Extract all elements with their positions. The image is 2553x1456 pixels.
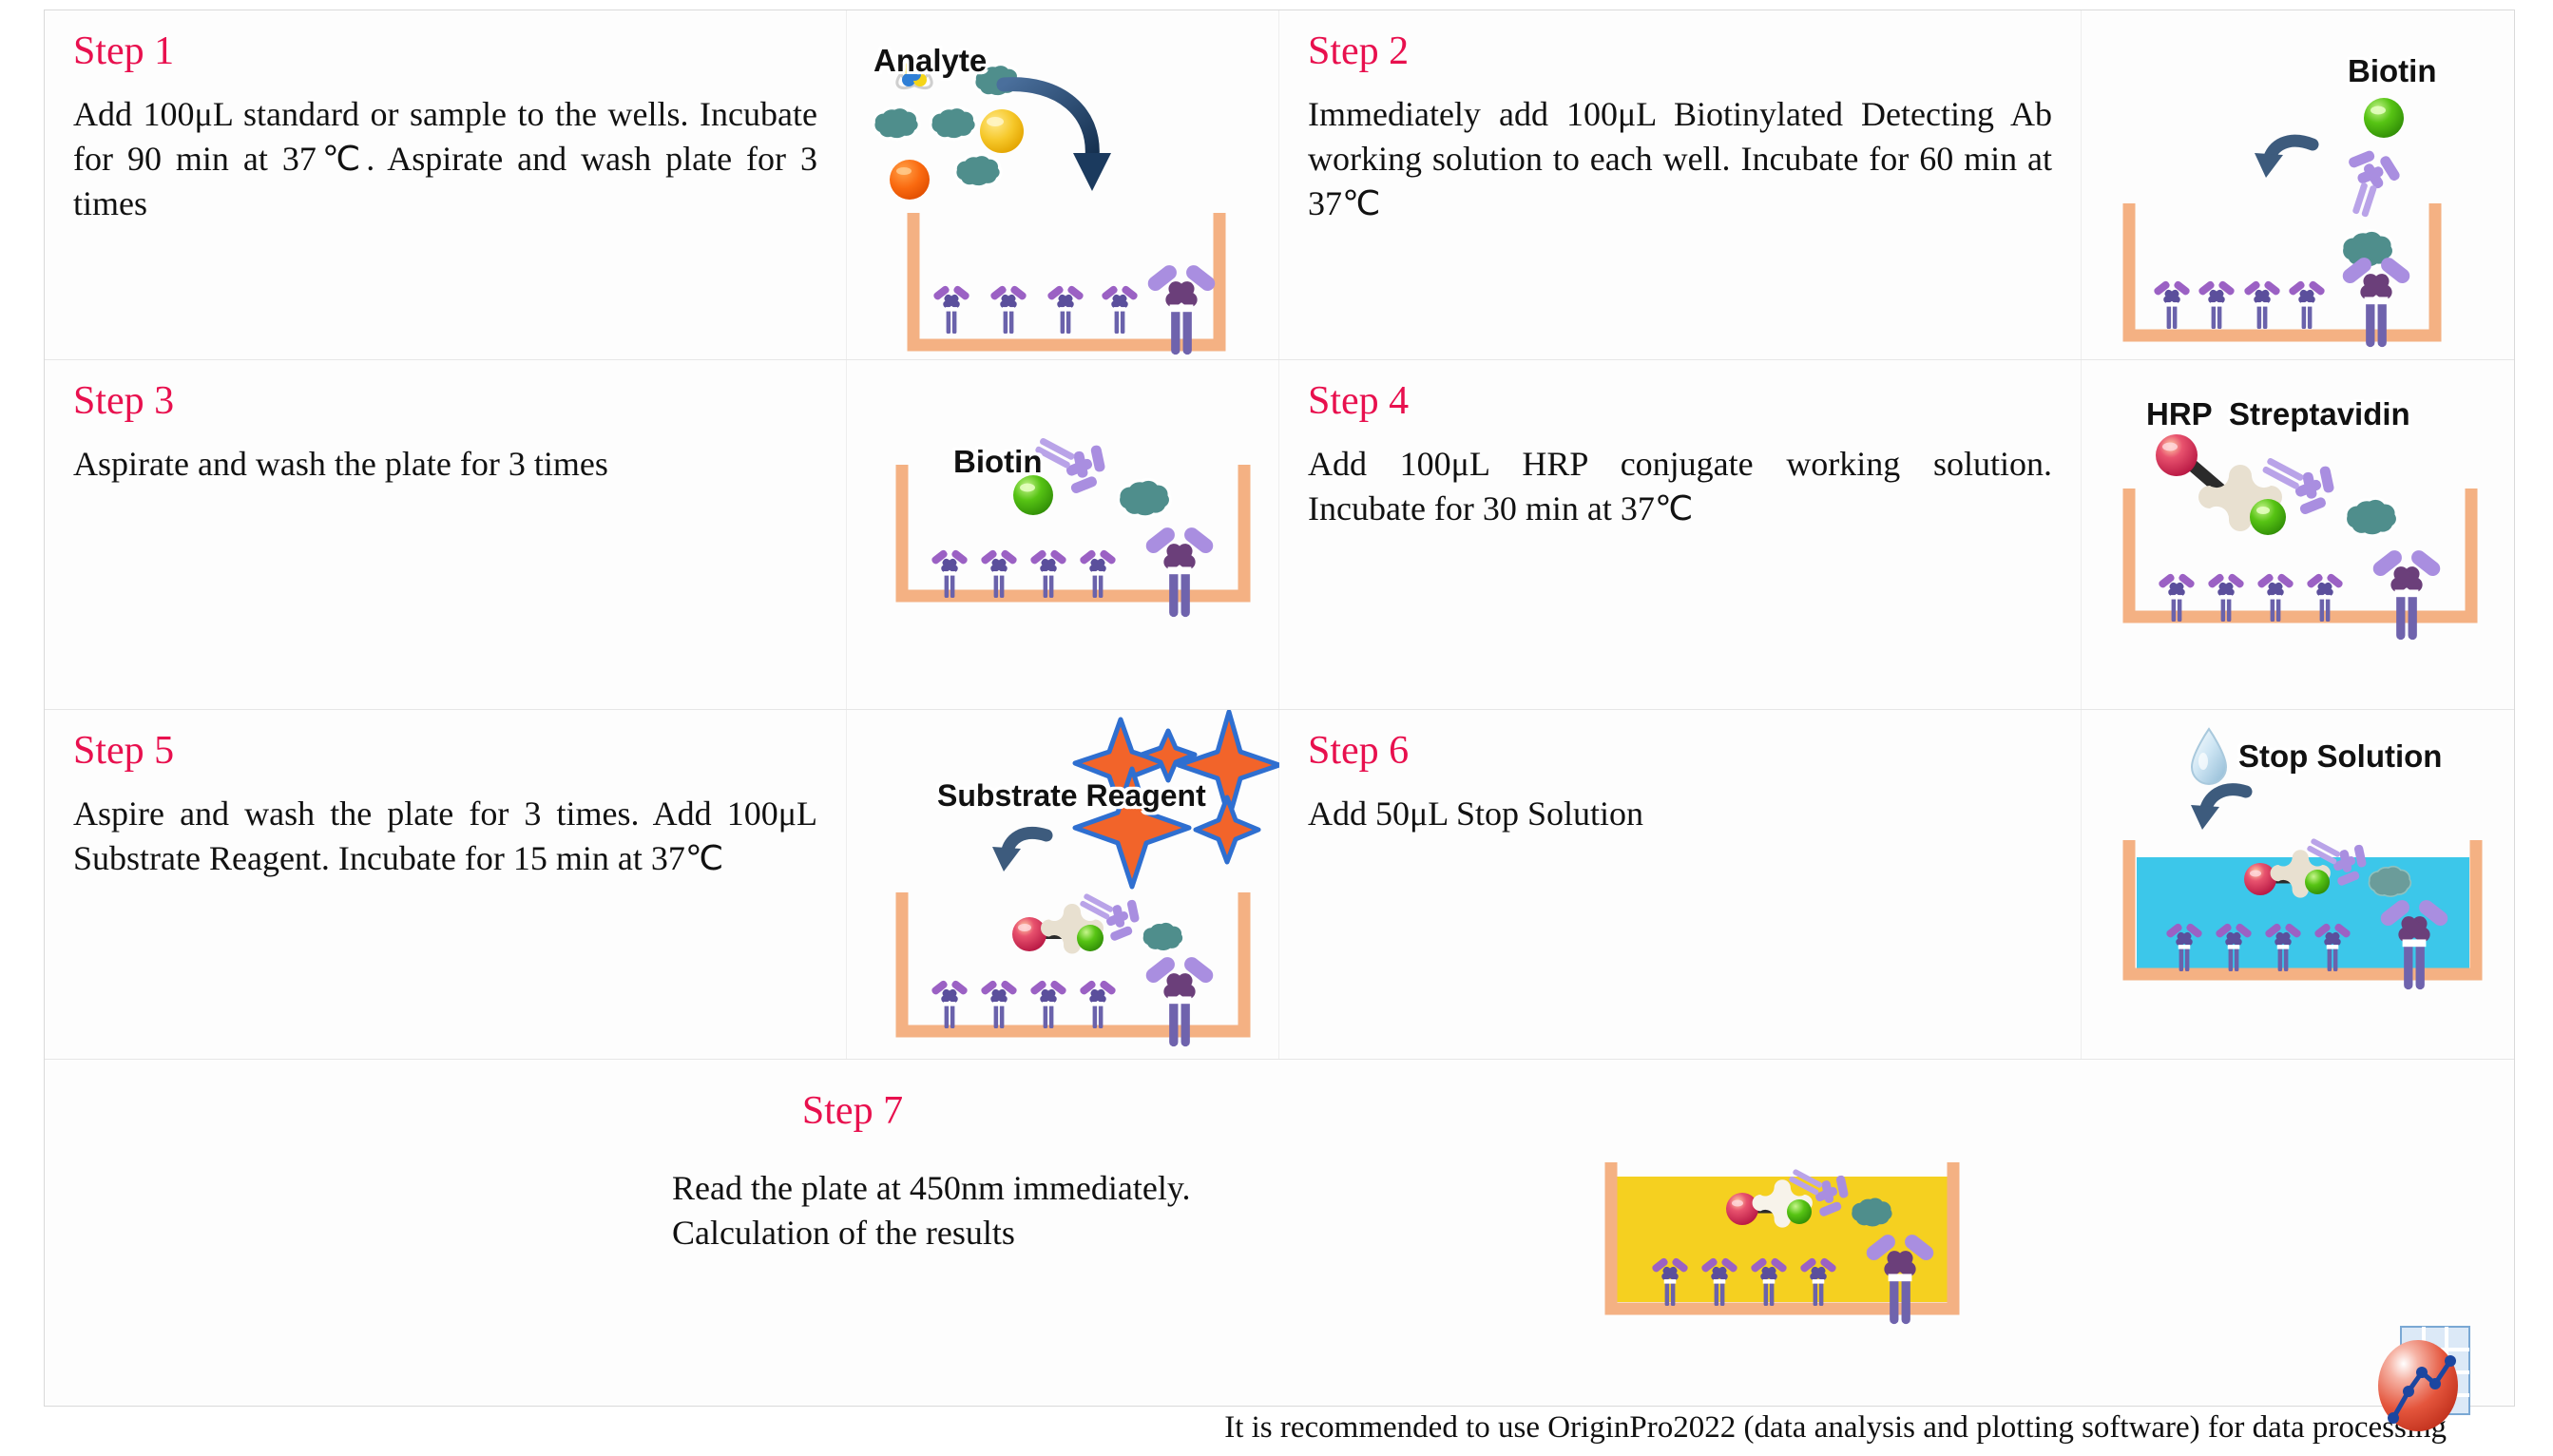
cell-step5-text: Step 5 Aspire and wash the plate for 3 t…: [45, 710, 847, 1059]
hrp-sphere-icon: [1726, 1193, 1758, 1225]
cell-step6-text: Step 6 Add 50μL Stop Solution: [1279, 710, 2082, 1059]
originpro-logo[interactable]: [2361, 1323, 2477, 1439]
step5-title: Step 5: [73, 731, 817, 771]
step7-body-line1: Read the plate at 450nm immediately.: [672, 1166, 1508, 1211]
washed-sandwich-diagram: [847, 360, 1279, 709]
capture-antibody-large: [2371, 547, 2444, 640]
step4-illustration: HRP Streptavidin: [2082, 360, 2514, 709]
cell-step3-illustration: Biotin: [847, 360, 1279, 709]
cell-step2-text: Step 2 Immediately add 100μL Biotinylate…: [1279, 10, 2082, 359]
step2-body: Immediately add 100μL Biotinylated Detec…: [1308, 92, 2052, 225]
step7-body: Read the plate at 450nm immediately. Cal…: [672, 1166, 1508, 1255]
biotin-sphere-icon: [1077, 925, 1104, 951]
capture-antibody-large: [1143, 525, 1217, 617]
capture-antibody-group: [931, 979, 1117, 1028]
cell-step4-illustration: HRP Streptavidin: [2082, 360, 2514, 709]
biotin-sphere-icon: [2364, 98, 2404, 138]
step6-body: Add 50μL Stop Solution: [1308, 792, 2052, 836]
step5-body: Aspire and wash the plate for 3 times. A…: [73, 792, 817, 881]
hrp-sphere-icon: [1012, 917, 1046, 951]
step7-body-line2: Calculation of the results: [672, 1211, 1508, 1255]
footer: It is recommended to use OriginPro2022 (…: [0, 1410, 2553, 1456]
cell-step1-illustration: Analyte: [847, 10, 1279, 359]
substrate-reagent-diagram: [847, 710, 1279, 1059]
cell-step5-illustration: Substrate Reagent: [847, 710, 1279, 1059]
cell-step4-text: Step 4 Add 100μL HRP conjugate working s…: [1279, 360, 2082, 709]
step6-illustration: Stop Solution: [2082, 710, 2514, 1059]
analyte-label: Analyte: [873, 43, 987, 79]
streptavidin-label: Streptavidin: [2229, 396, 2410, 432]
stop-solution-label: Stop Solution: [2238, 738, 2442, 775]
cell-step2-illustration: Biotin: [2082, 10, 2514, 359]
biotin-label: Biotin: [2348, 53, 2436, 89]
biotin-sphere-icon: [1787, 1199, 1812, 1224]
orange-molecule-icon: [890, 160, 930, 200]
hrp-sphere-icon: [2156, 434, 2198, 476]
step4-title: Step 4: [1308, 381, 2052, 421]
step1-title: Step 1: [73, 31, 817, 71]
curved-left-arrow-icon: [2191, 790, 2246, 830]
step4-body: Add 100μL HRP conjugate working solution…: [1308, 442, 2052, 531]
step6-title: Step 6: [1308, 731, 2052, 771]
elisa-protocol-sheet: Step 1 Add 100μL standard or sample to t…: [0, 0, 2553, 1456]
step1-body: Add 100μL standard or sample to the well…: [73, 92, 817, 225]
water-drop-icon: [2192, 729, 2226, 784]
curved-left-arrow-icon: [992, 833, 1046, 872]
step1-illustration: Analyte: [847, 10, 1278, 359]
biotin-sphere-icon: [2305, 870, 2330, 894]
biotin-sphere-icon: [2250, 499, 2286, 535]
analyte-bound: [1142, 922, 1183, 952]
cell-step6-illustration: Stop Solution: [2082, 710, 2514, 1059]
step3-body: Aspirate and wash the plate for 3 times: [73, 442, 817, 487]
biotinylated-antibody-diagram: [2082, 10, 2514, 359]
table-row: Step 1 Add 100μL standard or sample to t…: [45, 10, 2514, 360]
analyte-bound: [2346, 498, 2398, 535]
cell-step1-text: Step 1 Add 100μL standard or sample to t…: [45, 10, 847, 359]
step2-title: Step 2: [1308, 31, 2052, 71]
hrp-sphere-icon: [2244, 863, 2276, 895]
capture-antibody-group: [932, 284, 1139, 334]
step7-title: Step 7: [45, 1088, 1603, 1134]
read-plate-diagram: [1603, 1151, 2022, 1389]
curved-left-arrow-icon: [2255, 141, 2313, 178]
step3-illustration: Biotin: [847, 360, 1278, 709]
biotin-sphere-icon: [1013, 475, 1053, 515]
table-row: Step 7 Read the plate at 450nm immediate…: [45, 1060, 2514, 1406]
cell-step7: Step 7 Read the plate at 450nm immediate…: [45, 1060, 2514, 1406]
biotin-label: Biotin: [953, 444, 1042, 480]
yellow-molecule-icon: [980, 109, 1024, 153]
analyte-bound: [1119, 479, 1171, 516]
footer-note: It is recommended to use OriginPro2022 (…: [1224, 1410, 2447, 1446]
table-row: Step 3 Aspirate and wash the plate for 3…: [45, 360, 2514, 710]
hrp-label: HRP: [2146, 396, 2213, 432]
protocol-table: Step 1 Add 100μL standard or sample to t…: [44, 10, 2515, 1407]
step3-title: Step 3: [73, 381, 817, 421]
biotinylated-detection-antibody: [2332, 143, 2408, 223]
capture-antibody-group: [2153, 279, 2326, 329]
step2-illustration: Biotin: [2082, 10, 2514, 359]
table-row: Step 5 Aspire and wash the plate for 3 t…: [45, 710, 2514, 1060]
cell-step3-text: Step 3 Aspirate and wash the plate for 3…: [45, 360, 847, 709]
substrate-reagent-label: Substrate Reagent: [937, 778, 1206, 814]
step7-illustration: [1603, 1151, 2098, 1393]
step5-illustration: Substrate Reagent: [847, 710, 1278, 1059]
